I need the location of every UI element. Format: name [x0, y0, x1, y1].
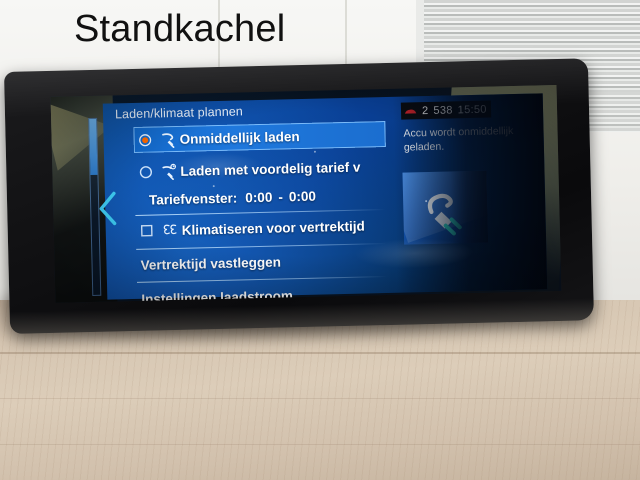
tariff-window-row[interactable]: Tariefvenster: 0:00 - 0:00	[135, 181, 435, 212]
infotainment-display: Laden/klimaat plannen	[4, 58, 594, 334]
page-title: Standkachel	[74, 8, 285, 51]
scrollbar-thumb[interactable]	[89, 119, 97, 175]
checkbox-empty-icon	[141, 225, 153, 237]
floor-plank	[0, 444, 640, 445]
glass-speck	[213, 185, 215, 187]
tariff-end-time[interactable]: 0:00	[289, 188, 316, 204]
status-message: Accu wordt onmiddellijk geladen.	[403, 124, 530, 155]
floor-seam	[0, 352, 640, 354]
tariff-window-label: Tariefvenster:	[149, 190, 238, 207]
checkbox-empty[interactable]	[136, 224, 158, 237]
car-icon	[404, 107, 417, 115]
menu-list: Onmiddellijk laden	[133, 120, 437, 303]
radio-empty[interactable]	[134, 165, 156, 179]
fan-climate-icon	[158, 222, 182, 238]
glass-speck	[314, 151, 316, 153]
floor-plank	[0, 398, 640, 399]
menu-item-label: Onmiddellijk laden	[179, 129, 299, 147]
door-count: 2	[422, 105, 429, 117]
photo-scene: Standkachel Lade	[0, 0, 640, 480]
chevron-left-icon	[97, 191, 120, 226]
tariff-start-time[interactable]: 0:00	[245, 189, 272, 205]
status-message-line2: geladen.	[404, 138, 530, 155]
menu-item-immediate-charging[interactable]: Onmiddellijk laden	[133, 121, 386, 153]
range-value: 538	[433, 104, 453, 116]
charging-status-tile	[402, 171, 488, 245]
charge-plug-immediate-icon	[155, 130, 179, 148]
radio-empty-icon	[139, 165, 152, 178]
status-message-line1: Accu wordt onmiddellijk	[403, 124, 529, 141]
tile-dim-overlay	[450, 171, 488, 244]
display-glass: Laden/klimaat plannen	[51, 85, 562, 303]
clock-time: 15:50	[458, 103, 487, 116]
radio-selected-icon	[138, 133, 151, 146]
status-bar: 2 538 15:50	[401, 101, 491, 120]
menu-item-label: Klimatiseren voor vertrektijd	[182, 218, 365, 237]
menu-item-label: Vertrektijd vastleggen	[140, 254, 281, 272]
ui-panel: Laden/klimaat plannen	[103, 93, 547, 299]
tariff-separator: -	[278, 189, 283, 204]
screen-title: Laden/klimaat plannen	[115, 104, 243, 121]
glass-speck	[425, 200, 427, 202]
back-button[interactable]	[97, 191, 120, 226]
radio-selected[interactable]	[133, 133, 155, 147]
